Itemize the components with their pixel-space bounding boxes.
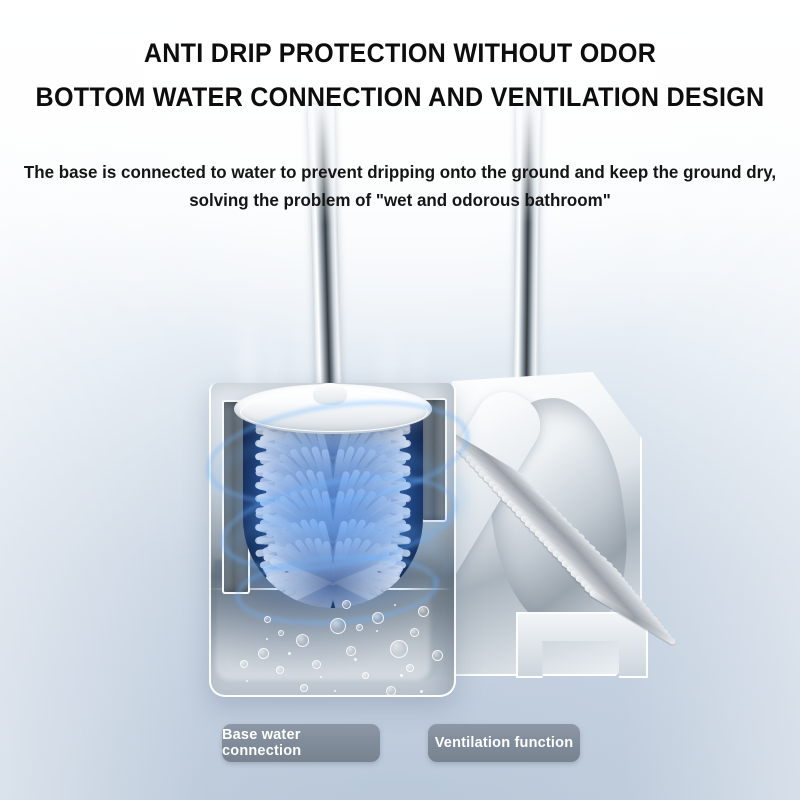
feature-badges: Base water connection Ventilation functi… — [0, 724, 800, 768]
water-droplet — [394, 604, 396, 606]
water-bubble — [386, 686, 396, 696]
pole-collar — [313, 383, 347, 405]
water-droplet — [288, 652, 291, 655]
headline-line-1: ANTI DRIP PROTECTION WITHOUT ODOR — [28, 38, 772, 69]
broom-head — [446, 404, 646, 684]
headline-line-2: BOTTOM WATER CONNECTION AND VENTILATION … — [28, 82, 772, 113]
water-droplet — [246, 680, 248, 682]
water-bubble — [342, 600, 351, 609]
water-droplet — [266, 638, 268, 640]
water-bubble — [346, 646, 356, 656]
water-bubble — [410, 628, 419, 637]
product-marketing-image: ANTI DRIP PROTECTION WITHOUT ODOR BOTTOM… — [0, 0, 800, 800]
badge-ventilation-function[interactable]: Ventilation function — [428, 724, 580, 762]
water-droplet — [420, 690, 423, 693]
water-bubble — [372, 612, 384, 624]
water-bubble — [356, 624, 363, 631]
water-bubble — [432, 650, 443, 661]
water-bubble — [362, 672, 369, 679]
product-illustration — [0, 0, 800, 800]
body-paragraph: The base is connected to water to preven… — [12, 158, 788, 214]
water-droplet — [320, 676, 322, 678]
broom-pole — [513, 104, 541, 394]
water-bubble — [312, 660, 321, 669]
water-bubble — [278, 630, 284, 636]
badge-base-water-connection[interactable]: Base water connection — [222, 724, 380, 762]
water-bubble — [330, 618, 346, 634]
water-bubble — [258, 648, 269, 659]
water-bubble — [418, 606, 429, 617]
badge-label: Base water connection — [222, 727, 380, 759]
water-droplet — [354, 658, 357, 661]
water-bubble — [406, 664, 414, 672]
water-bubble — [390, 640, 408, 658]
water-bubble — [264, 616, 271, 623]
water-bubble — [296, 634, 309, 647]
water-bubble — [276, 666, 284, 674]
water-droplet — [376, 630, 378, 632]
water-droplet — [400, 674, 403, 677]
water-bubble — [240, 660, 248, 668]
badge-label: Ventilation function — [435, 735, 574, 751]
toilet-brush-pole — [307, 104, 343, 410]
water-droplet — [334, 690, 336, 692]
water-bubble — [300, 684, 308, 692]
